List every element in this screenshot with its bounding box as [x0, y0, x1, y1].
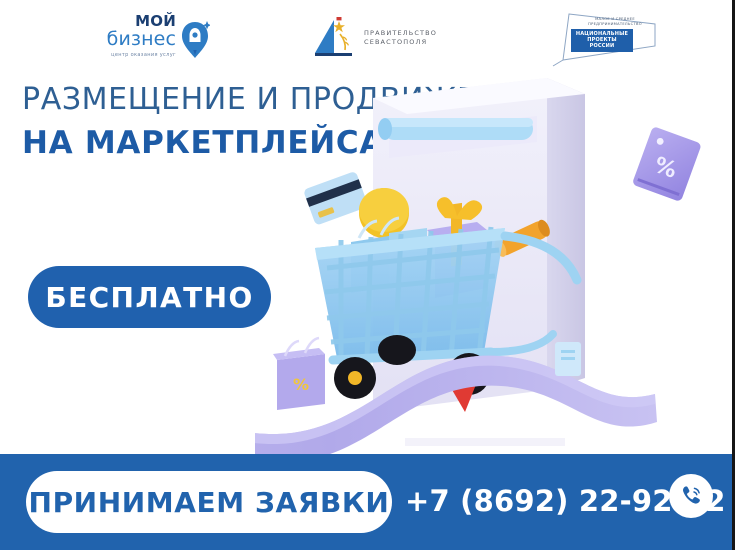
free-badge: БЕСПЛАТНО: [28, 266, 271, 328]
np-badge-line-3: РОССИИ: [571, 43, 633, 49]
rocket-pin-icon: [180, 19, 210, 61]
free-badge-label: БЕСПЛАТНО: [45, 281, 253, 314]
blue-sticker: [555, 342, 581, 376]
sevastopol-wordmark: ПРАВИТЕЛЬСТВО СЕВАСТОПОЛЯ: [364, 29, 437, 47]
credit-card: [303, 171, 369, 226]
sevastopol-line-2: СЕВАСТОПОЛЯ: [364, 38, 437, 47]
my-business-word-bottom: бизнес: [98, 30, 176, 49]
sevastopol-line-1: ПРАВИТЕЛЬСТВО: [364, 29, 437, 38]
phone-call-icon[interactable]: [669, 474, 713, 518]
shopping-cart-illustration: %: [255, 60, 733, 460]
discount-shopping-bag: %: [273, 338, 325, 410]
svg-text:%: %: [293, 375, 309, 394]
logo-my-business: МОЙ бизнес центр оказания услуг: [98, 14, 213, 64]
np-sector-line-2: ПРЕДПРИНИМАТЕЛЬСТВО: [577, 22, 653, 27]
my-business-tagline: центр оказания услуг: [98, 52, 176, 58]
logo-sevastopol-government: ПРАВИТЕЛЬСТВО СЕВАСТОПОЛЯ: [312, 12, 462, 66]
footer-bar: ПРИНИМАЕМ ЗАЯВКИ +7 (8692) 22-92-92: [0, 454, 735, 550]
promo-banner: МОЙ бизнес центр оказания услуг: [0, 0, 735, 550]
blue-roller: [378, 118, 533, 140]
discount-tag: %: [632, 126, 702, 202]
my-business-wordmark: МОЙ бизнес центр оказания услуг: [98, 14, 176, 58]
my-business-word-top: МОЙ: [98, 14, 176, 29]
accepting-applications-button[interactable]: ПРИНИМАЕМ ЗАЯВКИ: [26, 471, 392, 533]
national-projects-sector: МАЛОЕ И СРЕДНЕЕ ПРЕДПРИНИМАТЕЛЬСТВО: [577, 17, 653, 26]
accepting-applications-label: ПРИНИМАЕМ ЗАЯВКИ: [29, 486, 390, 519]
national-projects-badge: НАЦИОНАЛЬНЫЕ ПРОЕКТЫ РОССИИ: [571, 29, 633, 52]
sevastopol-coat-of-arms-icon: [312, 12, 358, 62]
